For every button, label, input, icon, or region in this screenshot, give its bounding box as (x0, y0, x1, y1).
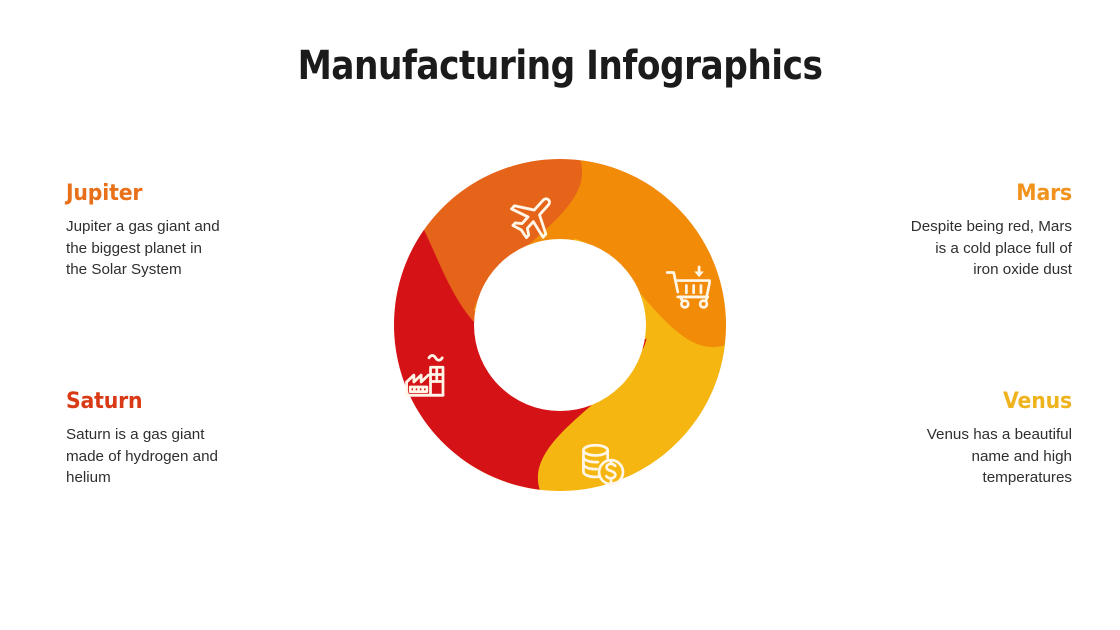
pinwheel-svg (378, 143, 742, 507)
pinwheel-center-hub (474, 239, 646, 411)
info-block-title-jupiter: Jupiter (66, 182, 261, 206)
info-block-title-venus: Venus (872, 390, 1072, 414)
info-block-body-mars: Despite being red, Mars is a cold place … (857, 216, 1072, 281)
info-block-body-saturn: Saturn is a gas giant made of hydrogen a… (66, 424, 276, 489)
info-block-venus: Venus Venus has a beautiful name and hig… (857, 390, 1072, 489)
page-title: Manufacturing Infographics (78, 44, 1041, 88)
info-block-mars: Mars Despite being red, Mars is a cold p… (857, 182, 1072, 281)
info-block-title-saturn: Saturn (66, 390, 261, 414)
info-block-title-mars: Mars (872, 182, 1072, 206)
slide-canvas: Manufacturing Infographics Jupiter Jupit… (0, 0, 1120, 630)
info-block-body-venus: Venus has a beautiful name and high temp… (857, 424, 1072, 489)
info-block-saturn: Saturn Saturn is a gas giant made of hyd… (66, 390, 276, 489)
info-block-jupiter: Jupiter Jupiter a gas giant and the bigg… (66, 182, 276, 281)
info-block-body-jupiter: Jupiter a gas giant and the biggest plan… (66, 216, 276, 281)
pinwheel-diagram (378, 143, 742, 507)
